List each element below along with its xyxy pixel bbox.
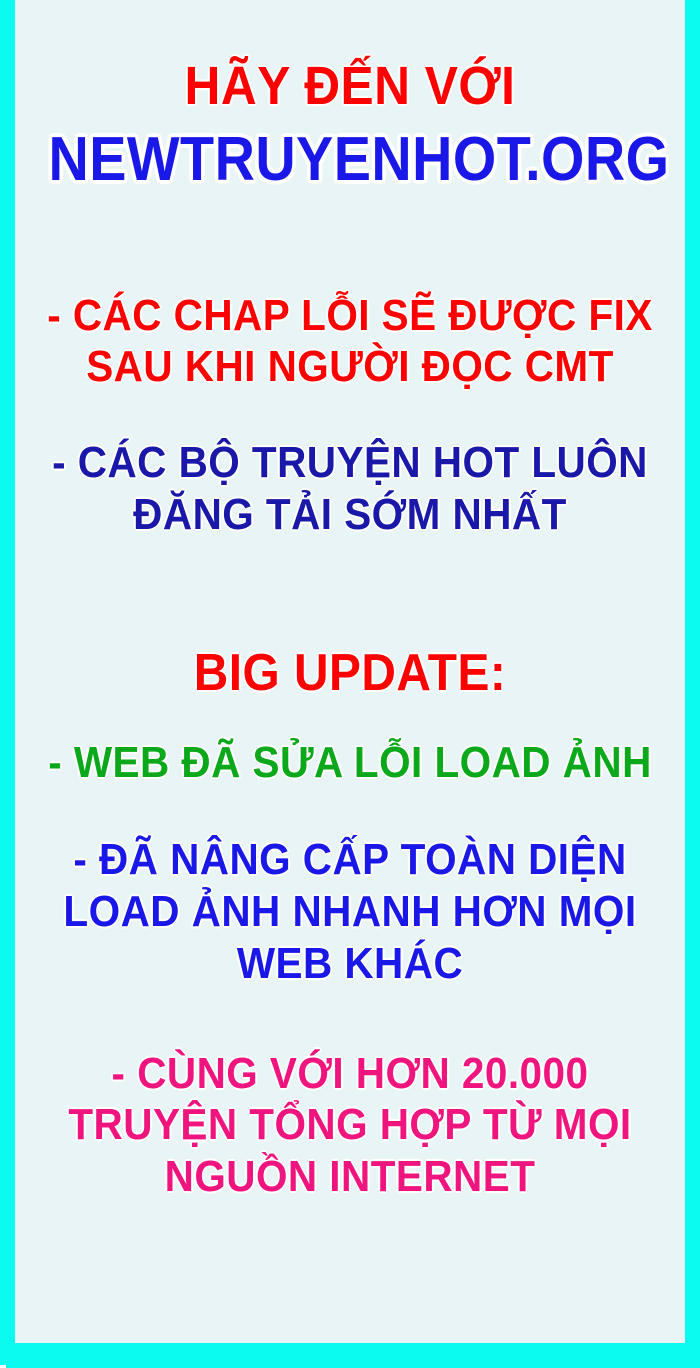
section-big-update-heading: BIG UPDATE: (15, 646, 685, 700)
section-image-load-fixed: - WEB ĐÃ SỬA LỖI LOAD ẢNH (15, 740, 685, 786)
section-hot-series: - CÁC BỘ TRUYỆN HOT LUÔN ĐĂNG TẢI SỚM NH… (15, 440, 685, 538)
full-upgrade-line-1: - ĐÃ NÂNG CẤP TOÀN DIỆN (42, 837, 658, 883)
banner-panel: HÃY ĐẾN VỚI NEWTRUYENHOT.ORG - CÁC CHAP … (15, 0, 685, 1343)
section-full-upgrade: - ĐÃ NÂNG CẤP TOÀN DIỆN LOAD ẢNH NHANH H… (15, 837, 685, 986)
section-bugfix-notice: - CÁC CHAP LỖI SẼ ĐƯỢC FIX SAU KHI NGƯỜI… (15, 293, 685, 391)
image-load-fixed-line-1: - WEB ĐÃ SỬA LỖI LOAD ẢNH (42, 740, 658, 786)
catalogue-count-line-3: NGUỒN INTERNET (42, 1154, 658, 1200)
big-update-heading-text: BIG UPDATE: (42, 646, 658, 700)
hot-series-line-2: ĐĂNG TẢI SỚM NHẤT (42, 492, 658, 538)
full-upgrade-line-2: LOAD ẢNH NHANH HƠN MỌI (42, 889, 658, 935)
hot-series-line-1: - CÁC BỘ TRUYỆN HOT LUÔN (42, 440, 658, 486)
bugfix-line-2: SAU KHI NGƯỜI ĐỌC CMT (42, 344, 658, 390)
bugfix-line-1: - CÁC CHAP LỖI SẼ ĐƯỢC FIX (42, 293, 658, 339)
catalogue-count-line-1: - CÙNG VỚI HƠN 20.000 (42, 1051, 658, 1097)
website-url-text[interactable]: NEWTRUYENHOT.ORG (49, 128, 652, 192)
promo-banner: HÃY ĐẾN VỚI NEWTRUYENHOT.ORG - CÁC CHAP … (0, 0, 700, 1368)
tagline-text: HÃY ĐẾN VỚI (42, 58, 658, 114)
full-upgrade-line-3: WEB KHÁC (42, 941, 658, 987)
section-catalogue-count: - CÙNG VỚI HƠN 20.000 TRUYỆN TỔNG HỢP TỪ… (15, 1051, 685, 1200)
catalogue-count-line-2: TRUYỆN TỔNG HỢP TỪ MỌI (42, 1102, 658, 1148)
banner-header: HÃY ĐẾN VỚI NEWTRUYENHOT.ORG (15, 0, 685, 193)
